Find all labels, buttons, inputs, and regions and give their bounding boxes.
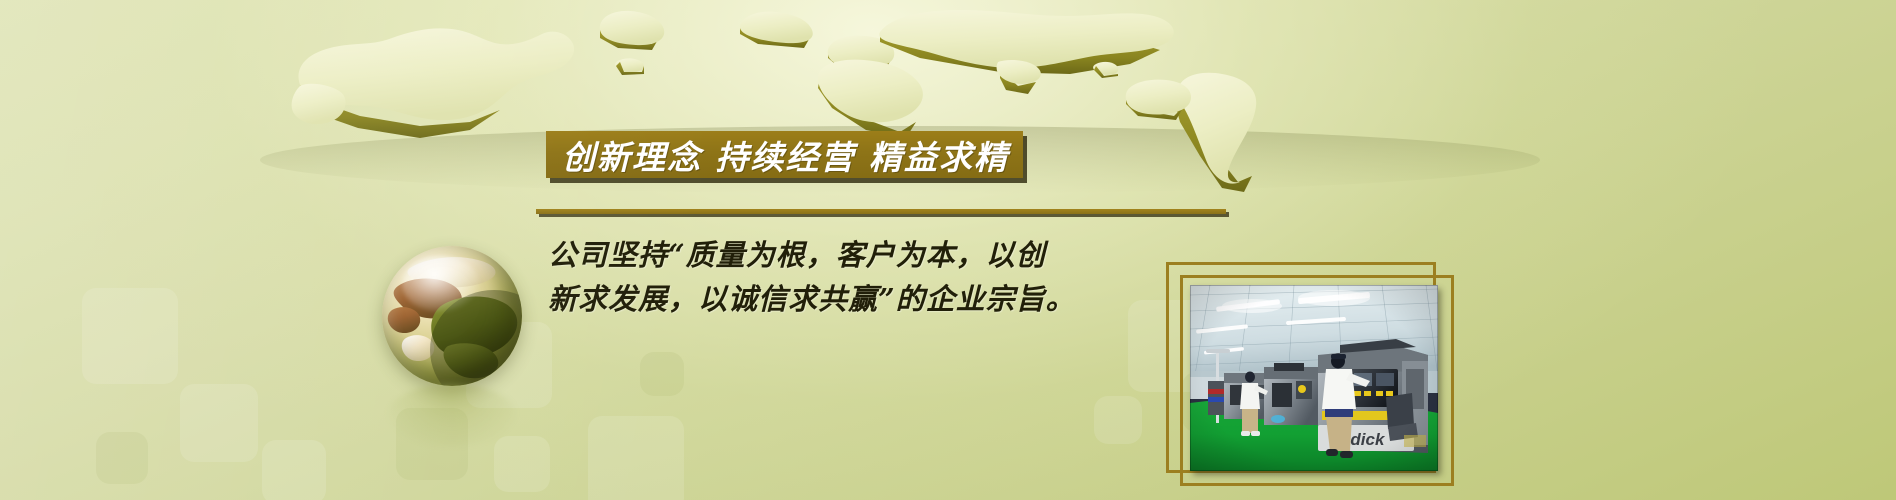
watermark-square-11	[1094, 396, 1142, 444]
globe-floor-reflection	[388, 384, 516, 446]
slogan-banner: 创新理念 持续经营 精益求精	[546, 131, 1023, 178]
map-islands	[615, 58, 1118, 78]
watermark-square-7	[588, 416, 684, 500]
motto-line-2: 新求发展，以诚信求共赢”的企业宗旨。	[548, 277, 1168, 321]
watermark-square-0	[82, 288, 178, 384]
globe-rim-shading	[382, 246, 522, 386]
factory-workshop-photo: odick	[1190, 285, 1438, 471]
slogan-underline-rule	[536, 209, 1226, 214]
company-motto-paragraph: 公司坚持“质量为根，客户为本，以创 新求发展，以诚信求共赢”的企业宗旨。	[548, 233, 1168, 321]
watermark-square-1	[180, 384, 258, 462]
watermark-square-3	[262, 440, 326, 500]
world-map-graphic	[0, 0, 1896, 220]
map-region-australia	[1126, 80, 1191, 120]
globe-sphere	[382, 246, 522, 386]
globe-graphic	[382, 246, 534, 456]
map-region-europe	[740, 12, 894, 72]
motto-line-1: 公司坚持“质量为根，客户为本，以创	[548, 233, 1168, 277]
map-region-greenland	[600, 11, 664, 50]
map-region-asia	[879, 10, 1174, 94]
slogan-text: 创新理念 持续经营 精益求精	[562, 131, 1009, 179]
map-region-africa	[818, 60, 923, 138]
map-region-south-america	[1174, 73, 1256, 192]
map-region-north-america	[292, 28, 574, 138]
company-culture-banner: 创新理念 持续经营 精益求精 公司坚持“质量为根，客户为本，以创 新求发展，以诚…	[0, 0, 1896, 500]
watermark-square-8	[640, 352, 684, 396]
watermark-square-2	[96, 432, 148, 484]
